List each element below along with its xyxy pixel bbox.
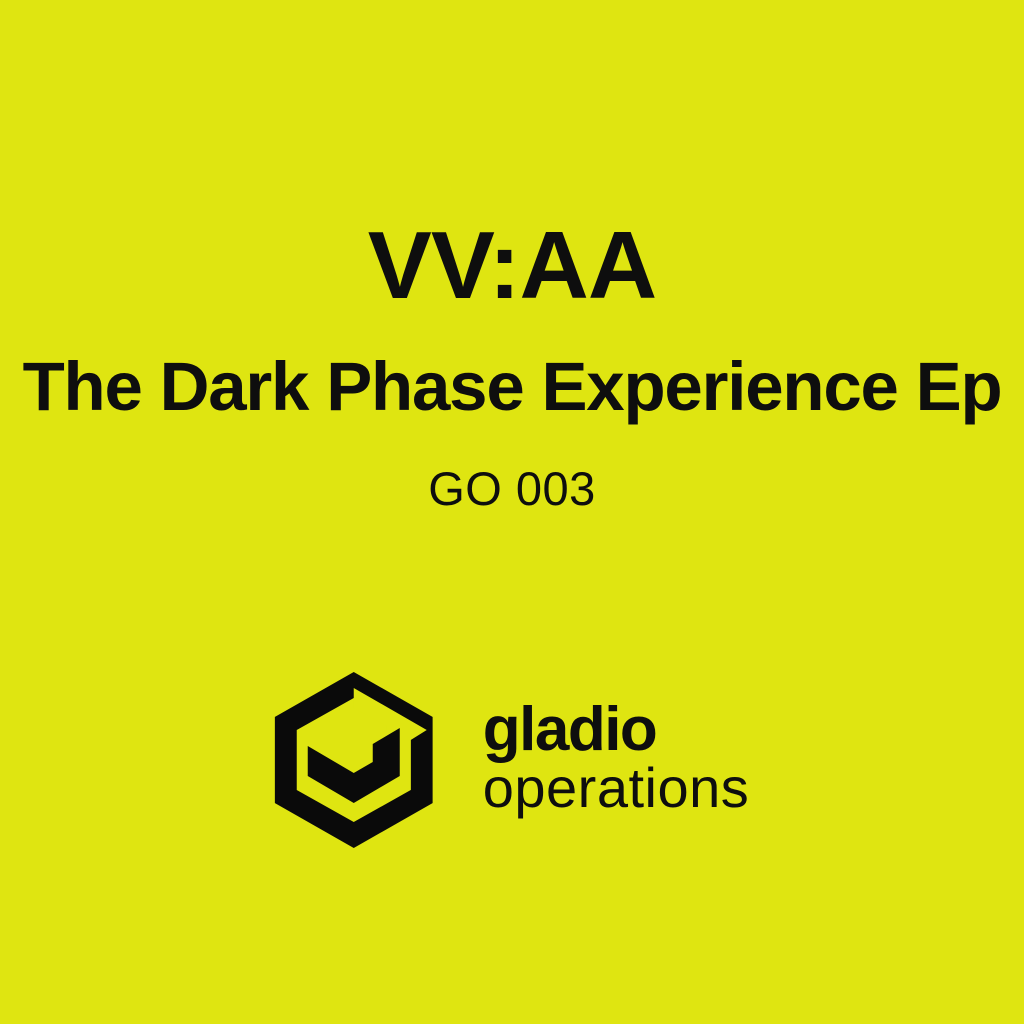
catalog-number: GO 003 <box>0 465 1024 512</box>
artist-name: VV:AA <box>0 218 1024 314</box>
gladio-hexagon-g-mark-icon <box>275 672 433 848</box>
release-info-block: VV:AA The Dark Phase Experience Ep GO 00… <box>0 218 1024 512</box>
label-logo-lockup: gladio operations <box>275 672 750 848</box>
release-title: The Dark Phase Experience Ep <box>0 352 1024 421</box>
label-wordmark: gladio operations <box>483 700 750 820</box>
label-name-secondary: operations <box>483 760 750 816</box>
album-cover-artwork: VV:AA The Dark Phase Experience Ep GO 00… <box>0 0 1024 1024</box>
label-name-primary: gladio <box>483 700 750 760</box>
